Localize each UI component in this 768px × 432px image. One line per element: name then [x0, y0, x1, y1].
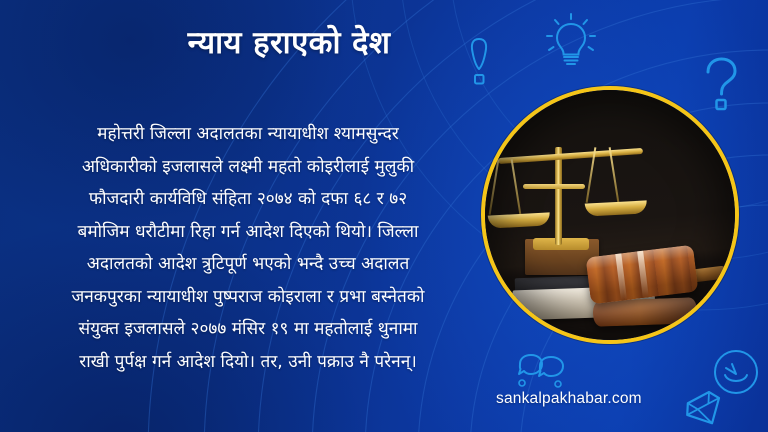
body-line: अदालतको आदेश त्रुटिपूर्ण भएको भन्दै उच्च… [14, 248, 482, 281]
question-mark-icon [700, 56, 742, 114]
body-line: राखी पुर्पक्ष गर्न आदेश दियो। तर, उनी पक… [14, 346, 482, 379]
scales-post [555, 147, 562, 245]
smiley-face-icon [712, 348, 760, 396]
gavel-band [615, 253, 627, 300]
body-line: महोत्तरी जिल्ला अदालतका न्यायाधीश श्यामस… [14, 118, 482, 151]
scales-crossbar [523, 184, 585, 189]
justice-photo-circle [481, 86, 739, 344]
article-body: महोत्तरी जिल्ला अदालतका न्यायाधीश श्यामस… [14, 118, 482, 378]
page-title: न्याय हराएको देश [0, 26, 768, 62]
exclamation-mark-icon [466, 36, 492, 88]
body-line: बमोजिम धरौटीमा रिहा गर्न आदेश दिएको थियो… [14, 216, 482, 249]
justice-photo [485, 90, 735, 340]
site-url[interactable]: sankalpakhabar.com [496, 390, 642, 408]
news-graphic-card: न्याय हराएको देश महोत्तरी जिल्ला अदालतका… [0, 0, 768, 432]
body-line: अधिकारीको इजलासले लक्ष्मी महतो कोइरीलाई … [14, 151, 482, 184]
lightbulb-icon [545, 12, 597, 68]
body-line: जनकपुरका न्यायाधीश पुष्पराज कोइराला र प्… [14, 281, 482, 314]
speech-bubble-icon [512, 352, 572, 390]
diamond-icon [683, 390, 727, 430]
body-line: संयुक्त इजलासले २०७७ मंसिर १९ मा महतोलाई… [14, 313, 482, 346]
body-line: फौजदारी कार्यविधि संहिता २०७४ को दफा ६८ … [14, 183, 482, 216]
gavel-band [637, 250, 649, 297]
